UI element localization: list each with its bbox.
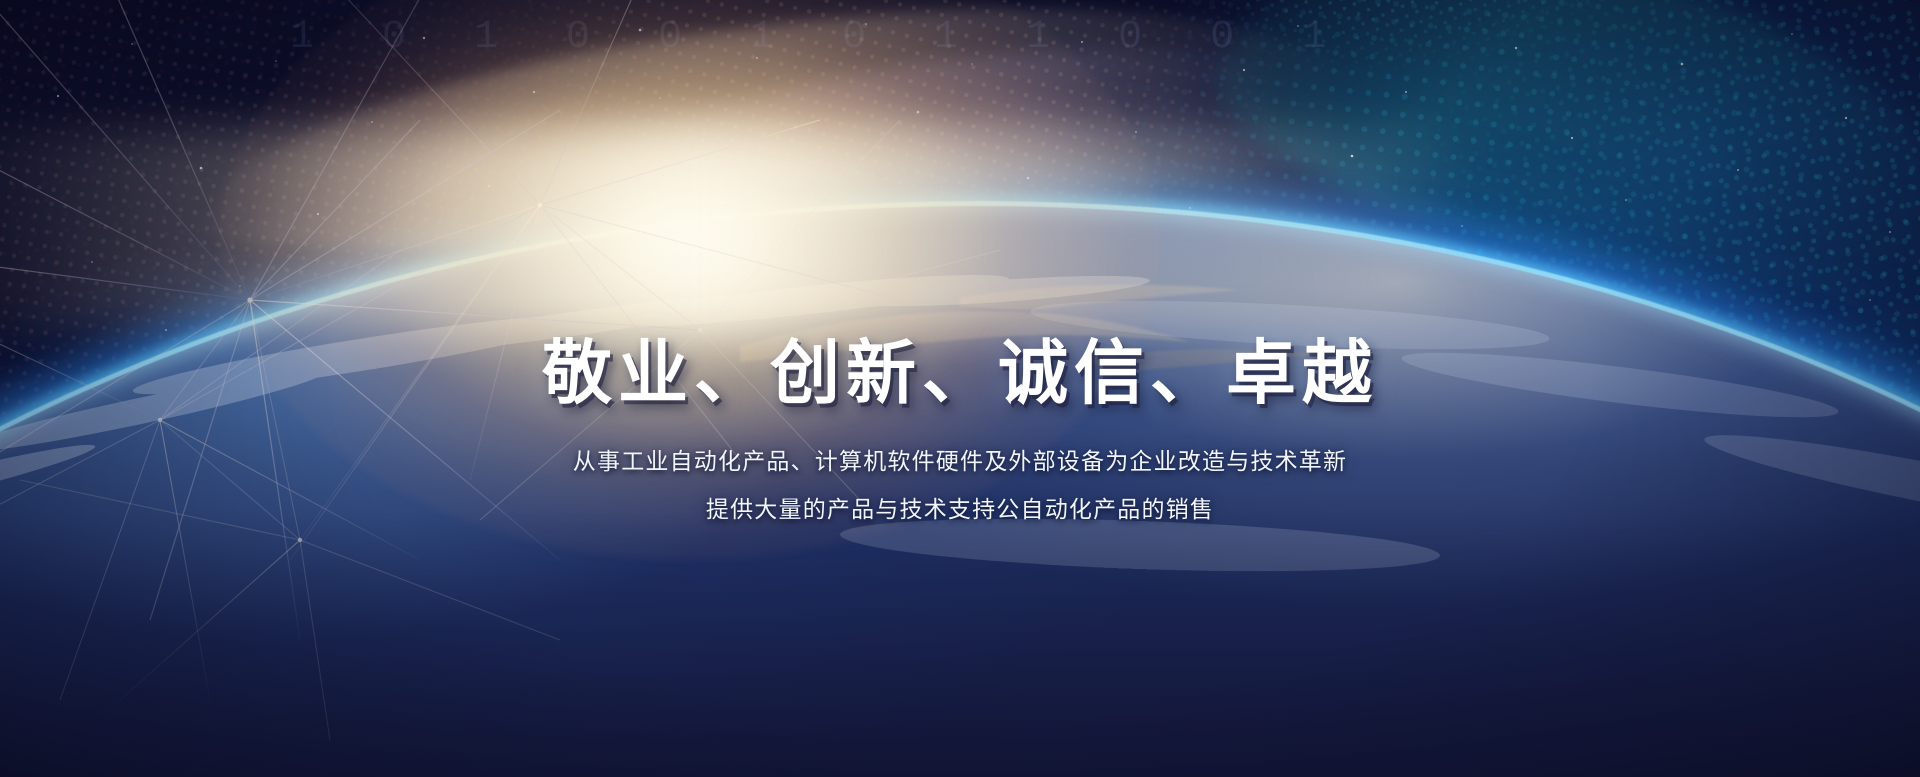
subtitle-line-1: 从事工业自动化产品、计算机软件硬件及外部设备为企业改造与技术革新 <box>573 442 1347 476</box>
banner-content: 敬业、创新、诚信、卓越 从事工业自动化产品、计算机软件硬件及外部设备为企业改造与… <box>0 0 1920 777</box>
subtitle-line-2: 提供大量的产品与技术支持公自动化产品的销售 <box>706 490 1214 524</box>
page-title: 敬业、创新、诚信、卓越 <box>542 338 1378 408</box>
hero-banner: 1 0 1 0 0 1 0 1 1 0 0 1 <box>0 0 1920 777</box>
subtitle-group: 从事工业自动化产品、计算机软件硬件及外部设备为企业改造与技术革新 提供大量的产品… <box>573 442 1347 524</box>
